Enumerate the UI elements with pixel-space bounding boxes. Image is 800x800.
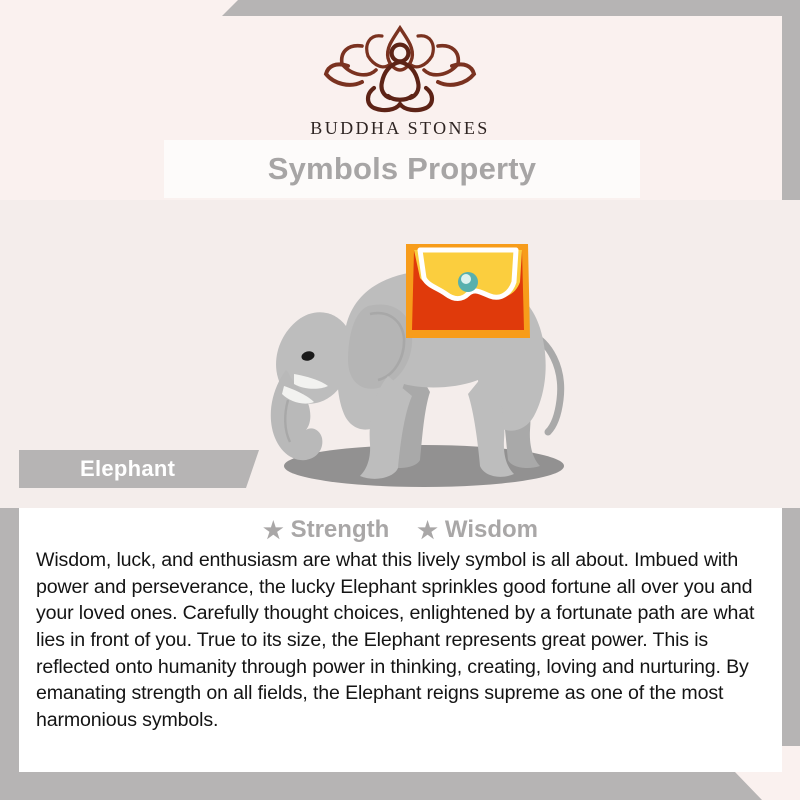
decorative-top-bar [222, 0, 800, 16]
brand-header: BUDDHA STONES [0, 22, 800, 142]
attribute-wisdom: ★ Wisdom [417, 516, 538, 544]
attribute-label: Wisdom [445, 516, 538, 544]
symbol-name: Elephant [80, 456, 175, 482]
symbol-property-card: BUDDHA STONES Symbols Property [0, 0, 800, 800]
walking-elephant-icon [228, 214, 588, 504]
decorative-bottom-bar [0, 772, 800, 800]
symbol-attributes: ★ Strength ★ Wisdom [19, 508, 782, 544]
star-icon: ★ [263, 519, 284, 542]
symbol-content-panel: ★ Strength ★ Wisdom Wisdom, luck, and en… [19, 508, 782, 772]
attribute-label: Strength [291, 516, 390, 544]
brand-name: BUDDHA STONES [310, 118, 489, 139]
symbol-description: Wisdom, luck, and enthusiasm are what th… [36, 547, 765, 733]
page-title: Symbols Property [268, 151, 537, 187]
attribute-strength: ★ Strength [263, 516, 389, 544]
star-icon: ★ [417, 519, 438, 542]
page-title-band: Symbols Property [164, 140, 640, 198]
lotus-meditation-icon [314, 22, 486, 114]
symbol-name-banner: Elephant [19, 450, 259, 488]
